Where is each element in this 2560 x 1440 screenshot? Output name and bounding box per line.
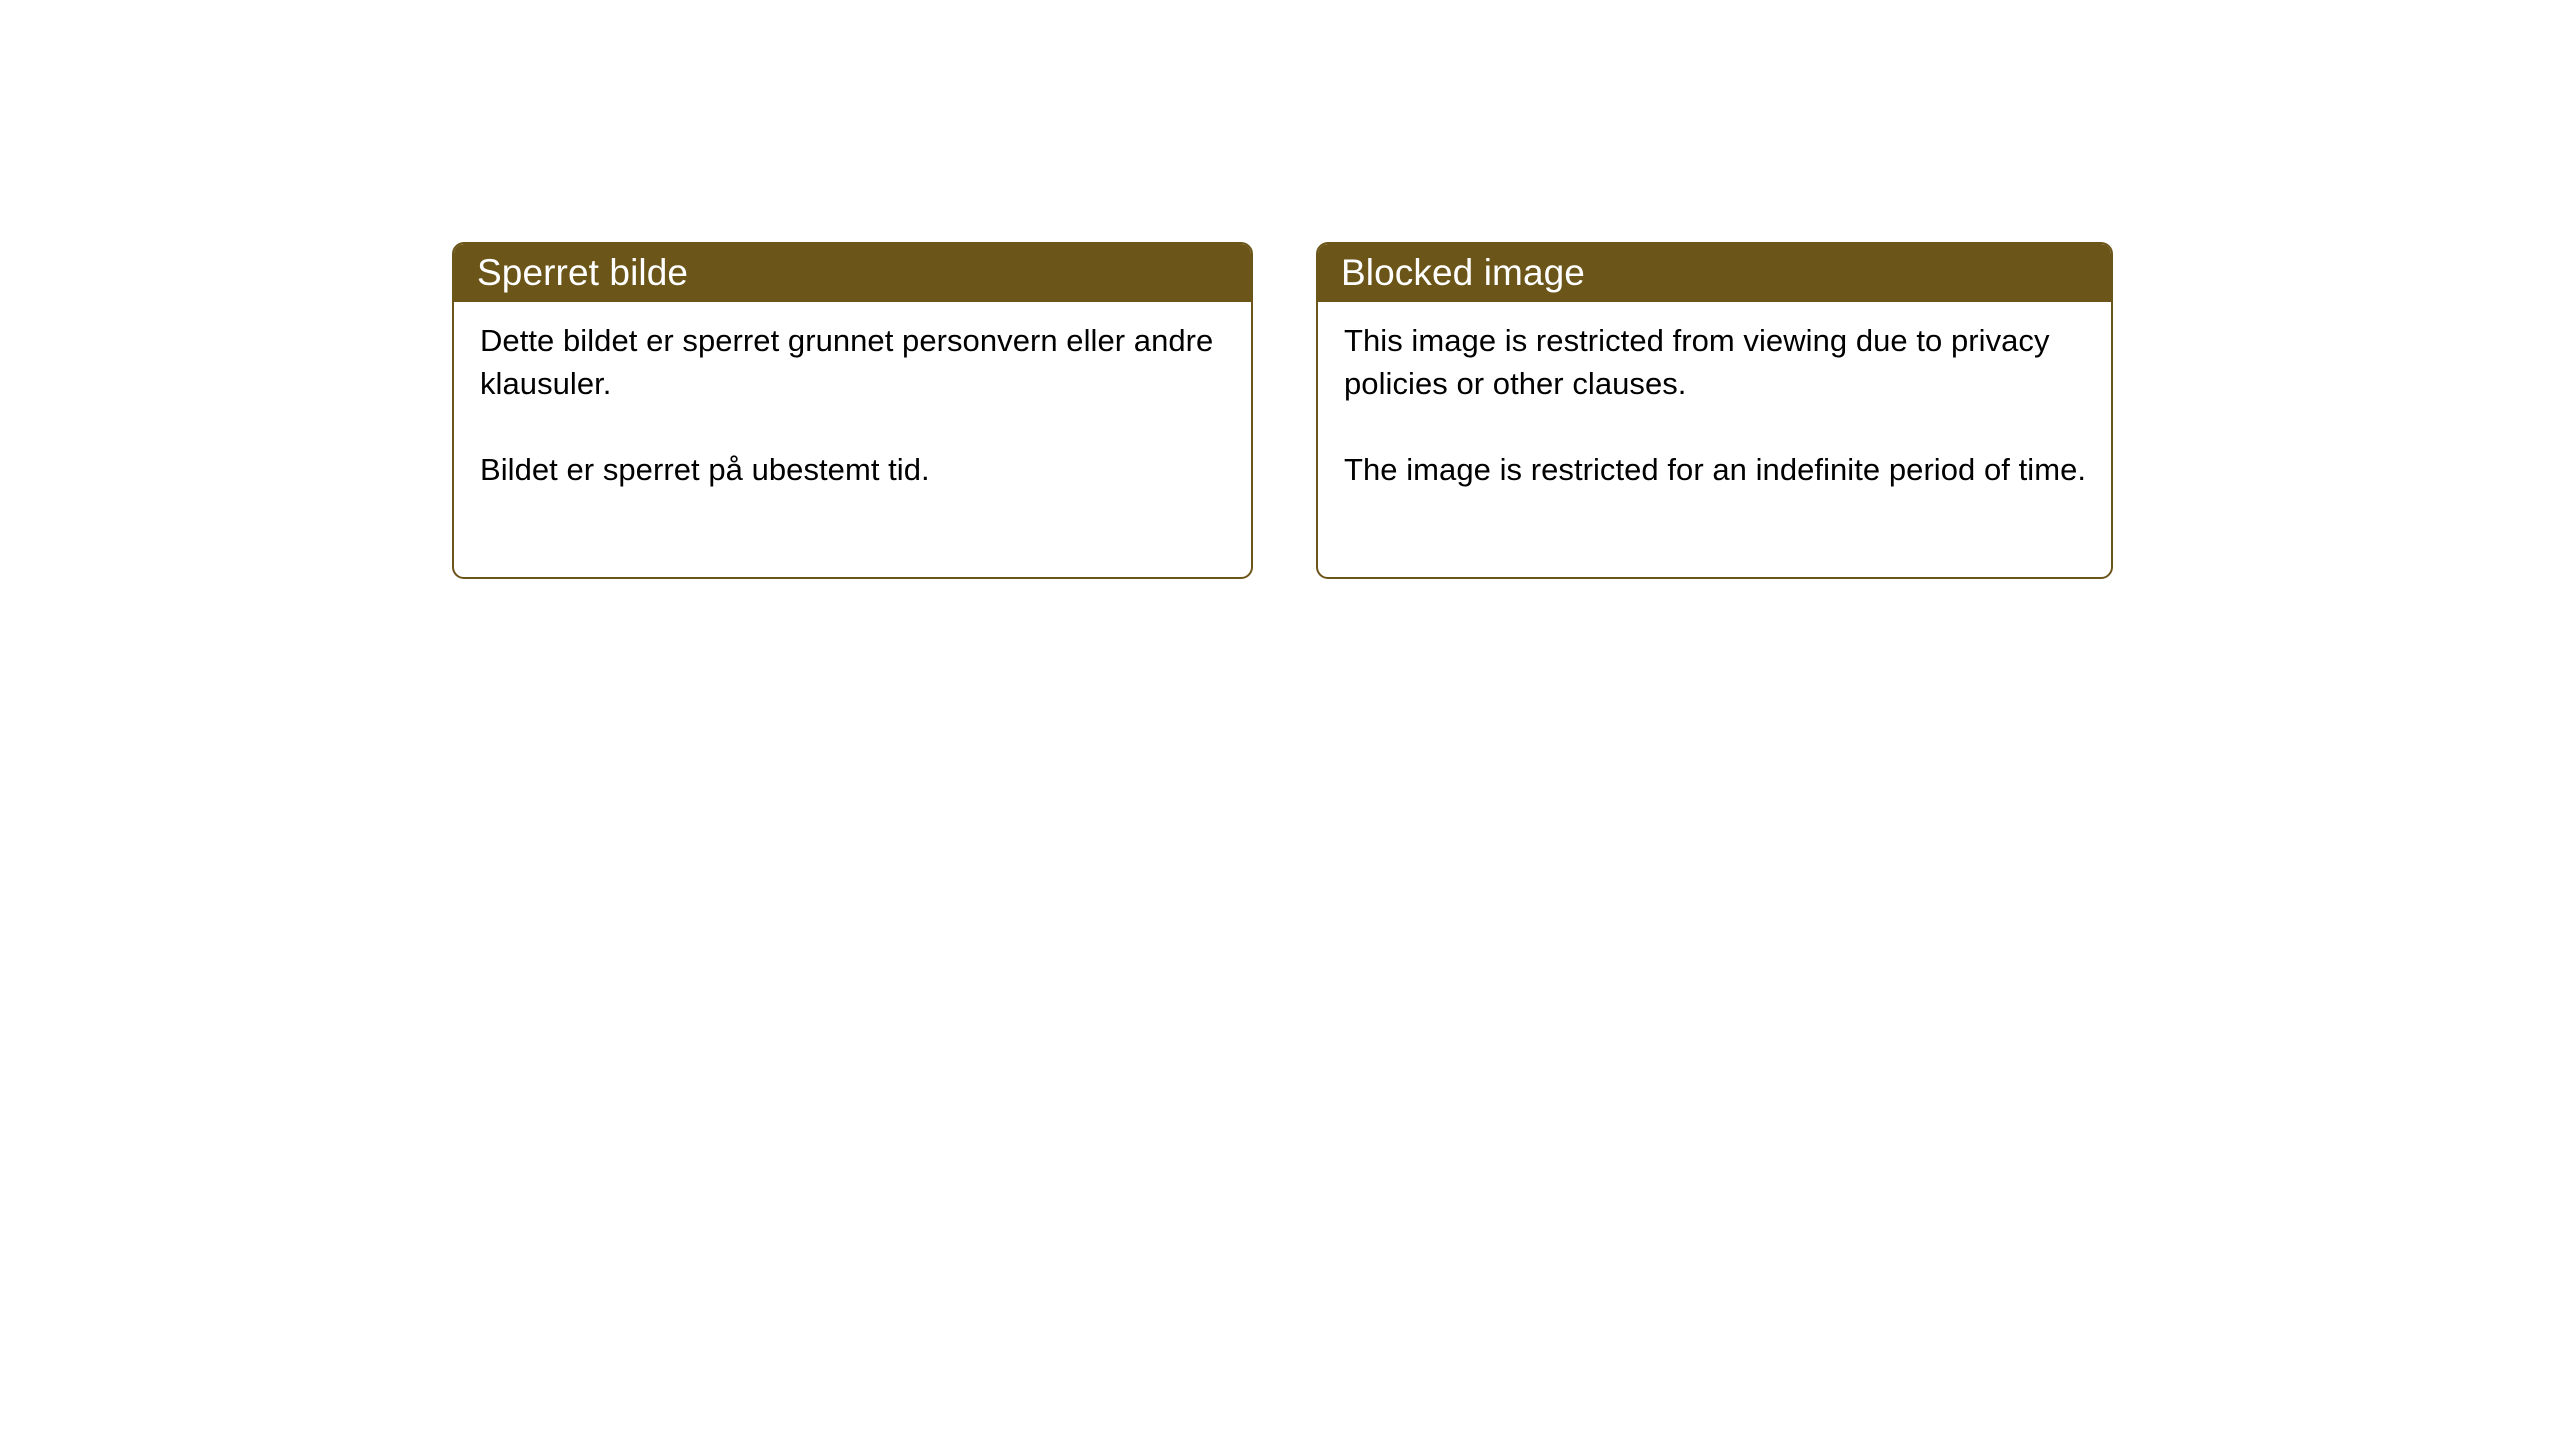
- card-paragraph-en-2: The image is restricted for an indefinit…: [1344, 448, 2091, 491]
- card-body-en: This image is restricted from viewing du…: [1318, 302, 2111, 491]
- card-title-en: Blocked image: [1341, 254, 1585, 291]
- card-paragraph-no-1: Dette bildet er sperret grunnet personve…: [480, 319, 1231, 405]
- card-header-no: Sperret bilde: [452, 242, 1253, 302]
- card-body-no: Dette bildet er sperret grunnet personve…: [454, 302, 1251, 491]
- card-title-no: Sperret bilde: [477, 254, 688, 291]
- page-canvas: Sperret bilde Dette bildet er sperret gr…: [0, 0, 2560, 1440]
- card-paragraph-no-2: Bildet er sperret på ubestemt tid.: [480, 448, 1231, 491]
- blocked-image-notice-card-no: Sperret bilde Dette bildet er sperret gr…: [452, 242, 1253, 579]
- card-paragraph-en-1: This image is restricted from viewing du…: [1344, 319, 2091, 405]
- card-header-en: Blocked image: [1316, 242, 2113, 302]
- blocked-image-notice-card-en: Blocked image This image is restricted f…: [1316, 242, 2113, 579]
